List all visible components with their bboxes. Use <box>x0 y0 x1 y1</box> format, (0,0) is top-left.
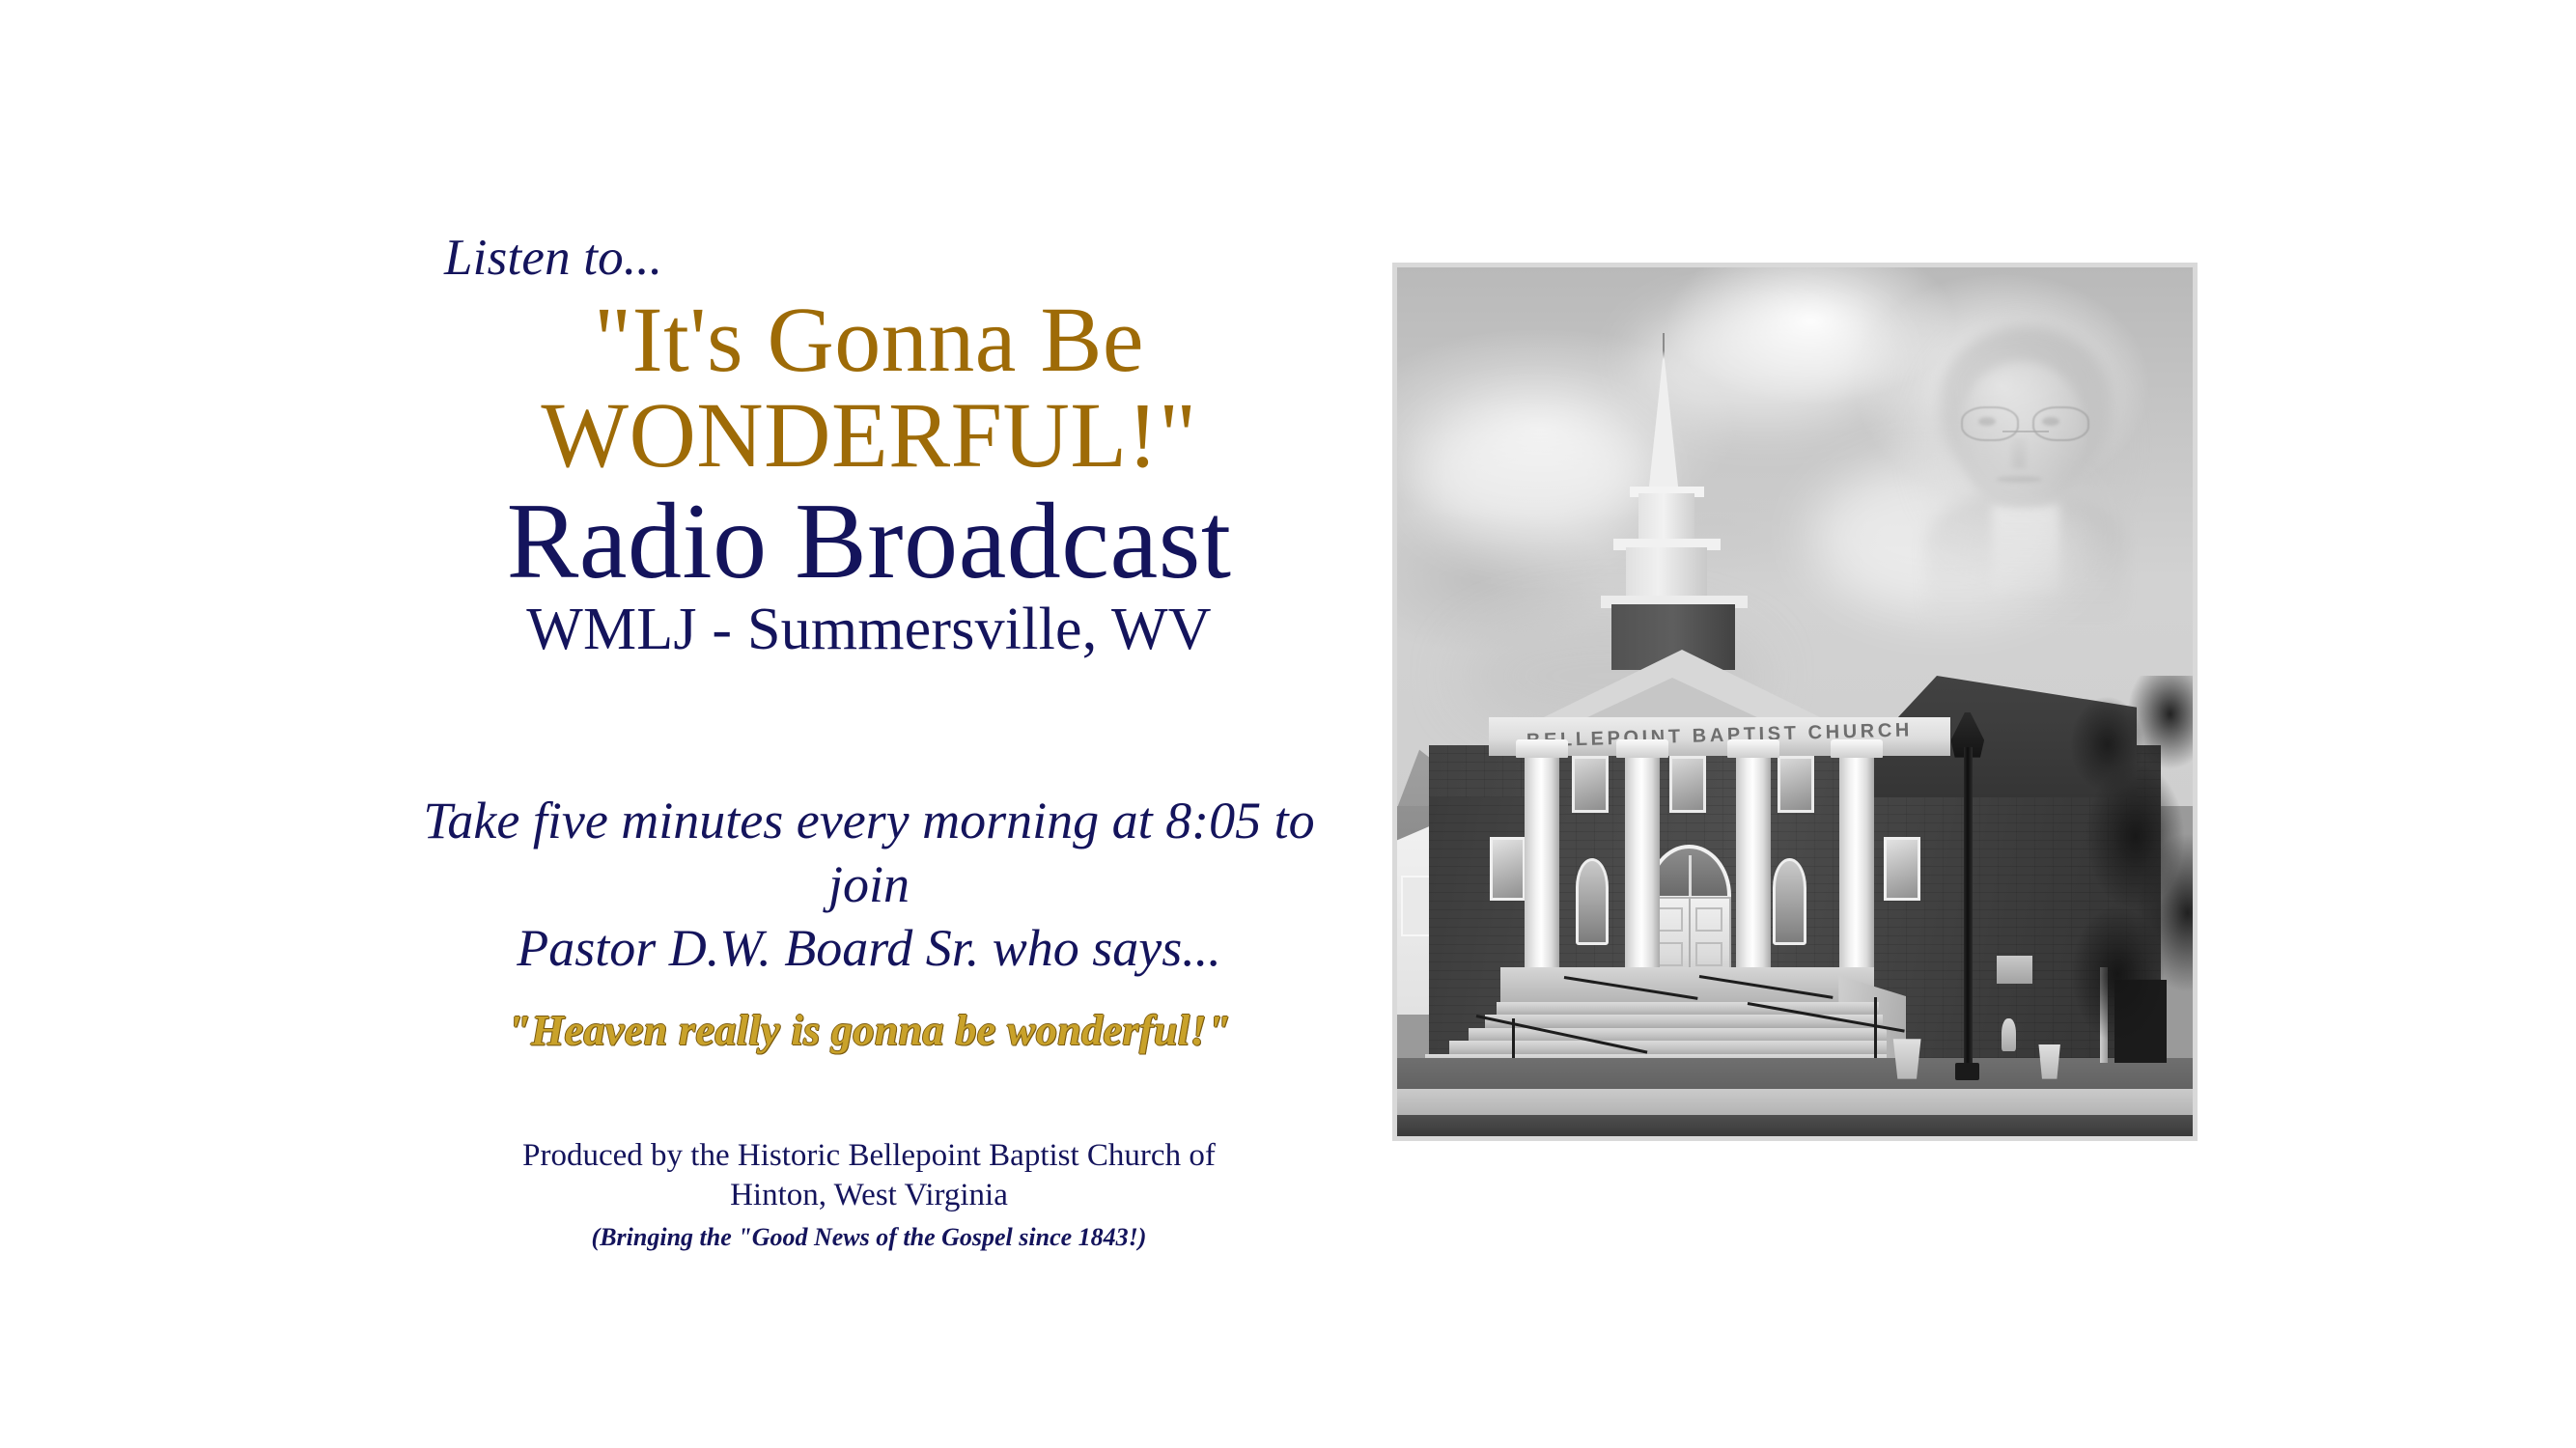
arched-window-right <box>1773 858 1806 945</box>
column-capital-1 <box>1516 739 1568 759</box>
portico-column-2 <box>1625 750 1660 989</box>
show-title-line-1: "It's Gonna Be <box>386 292 1352 388</box>
tree <box>2065 676 2193 1058</box>
church-tagline: (Bringing the "Good News of the Gospel s… <box>386 1222 1352 1252</box>
steeple-spire <box>1648 350 1679 495</box>
church-photograph: BELLEPOINT BAPTIST CHURCH <box>1397 267 2193 1136</box>
upper-window-2 <box>1669 756 1706 813</box>
church-photo-frame: BELLEPOINT BAPTIST CHURCH <box>1392 263 2198 1141</box>
show-title: "It's Gonna Be WONDERFUL!" <box>386 292 1352 485</box>
radio-broadcast-poster: Listen to... "It's Gonna Be WONDERFUL!" … <box>0 0 2576 1448</box>
upper-window-3 <box>1778 756 1814 813</box>
street <box>1397 1115 2193 1136</box>
producer-credit: Produced by the Historic Bellepoint Bapt… <box>386 1136 1352 1215</box>
glasses-lens-left <box>1961 406 2018 441</box>
portico-column-3 <box>1736 750 1771 989</box>
show-title-line-2: WONDERFUL!" <box>386 387 1352 484</box>
upper-window-1 <box>1572 756 1609 813</box>
station-call-sign: WMLJ - Summersville, WV <box>386 598 1352 662</box>
entrance-stoop <box>1500 967 1874 1007</box>
pastor-ghost-portrait <box>1859 285 2193 632</box>
glasses-icon <box>1959 406 2092 437</box>
wall-plaque <box>1997 956 2031 984</box>
lamp-post-base <box>1955 1063 1979 1080</box>
program-type-heading: Radio Broadcast <box>386 487 1352 596</box>
glasses-lens-right <box>2032 406 2089 441</box>
text-column: Listen to... "It's Gonna Be WONDERFUL!" … <box>386 232 1352 1253</box>
garden-statue <box>2002 1018 2016 1051</box>
handrail-post-right <box>1874 997 1877 1058</box>
portico-column-4 <box>1839 750 1874 989</box>
cloud-wisp-left <box>1413 406 1651 545</box>
portrait-nose <box>2010 437 2027 468</box>
portico-column-1 <box>1525 750 1559 989</box>
producer-credit-line-2: Hinton, West Virginia <box>386 1176 1352 1215</box>
column-capital-4 <box>1831 739 1883 759</box>
broadcast-invitation-line-1: Take five minutes every morning at 8:05 … <box>386 790 1352 917</box>
broadcast-invitation: Take five minutes every morning at 8:05 … <box>386 790 1352 981</box>
producer-credit-line-1: Produced by the Historic Bellepoint Bapt… <box>386 1136 1352 1176</box>
pastor-quote: "Heaven really is gonna be wonderful!" <box>386 1006 1352 1057</box>
door-panel-4 <box>1695 942 1722 966</box>
glasses-bridge <box>2002 431 2049 432</box>
column-capital-2 <box>1616 739 1668 759</box>
portrait-shirt <box>1992 504 2058 595</box>
arched-window-left <box>1576 858 1610 945</box>
door-panel-2 <box>1695 907 1722 932</box>
listen-to-label: Listen to... <box>444 232 1352 286</box>
side-window-right <box>1884 837 1920 902</box>
lamp-post-pole <box>1964 747 1973 1077</box>
sidewalk <box>1397 1089 2193 1119</box>
column-capital-3 <box>1727 739 1779 759</box>
side-window-left <box>1490 837 1526 902</box>
broadcast-invitation-line-2: Pastor D.W. Board Sr. who says... <box>386 917 1352 981</box>
